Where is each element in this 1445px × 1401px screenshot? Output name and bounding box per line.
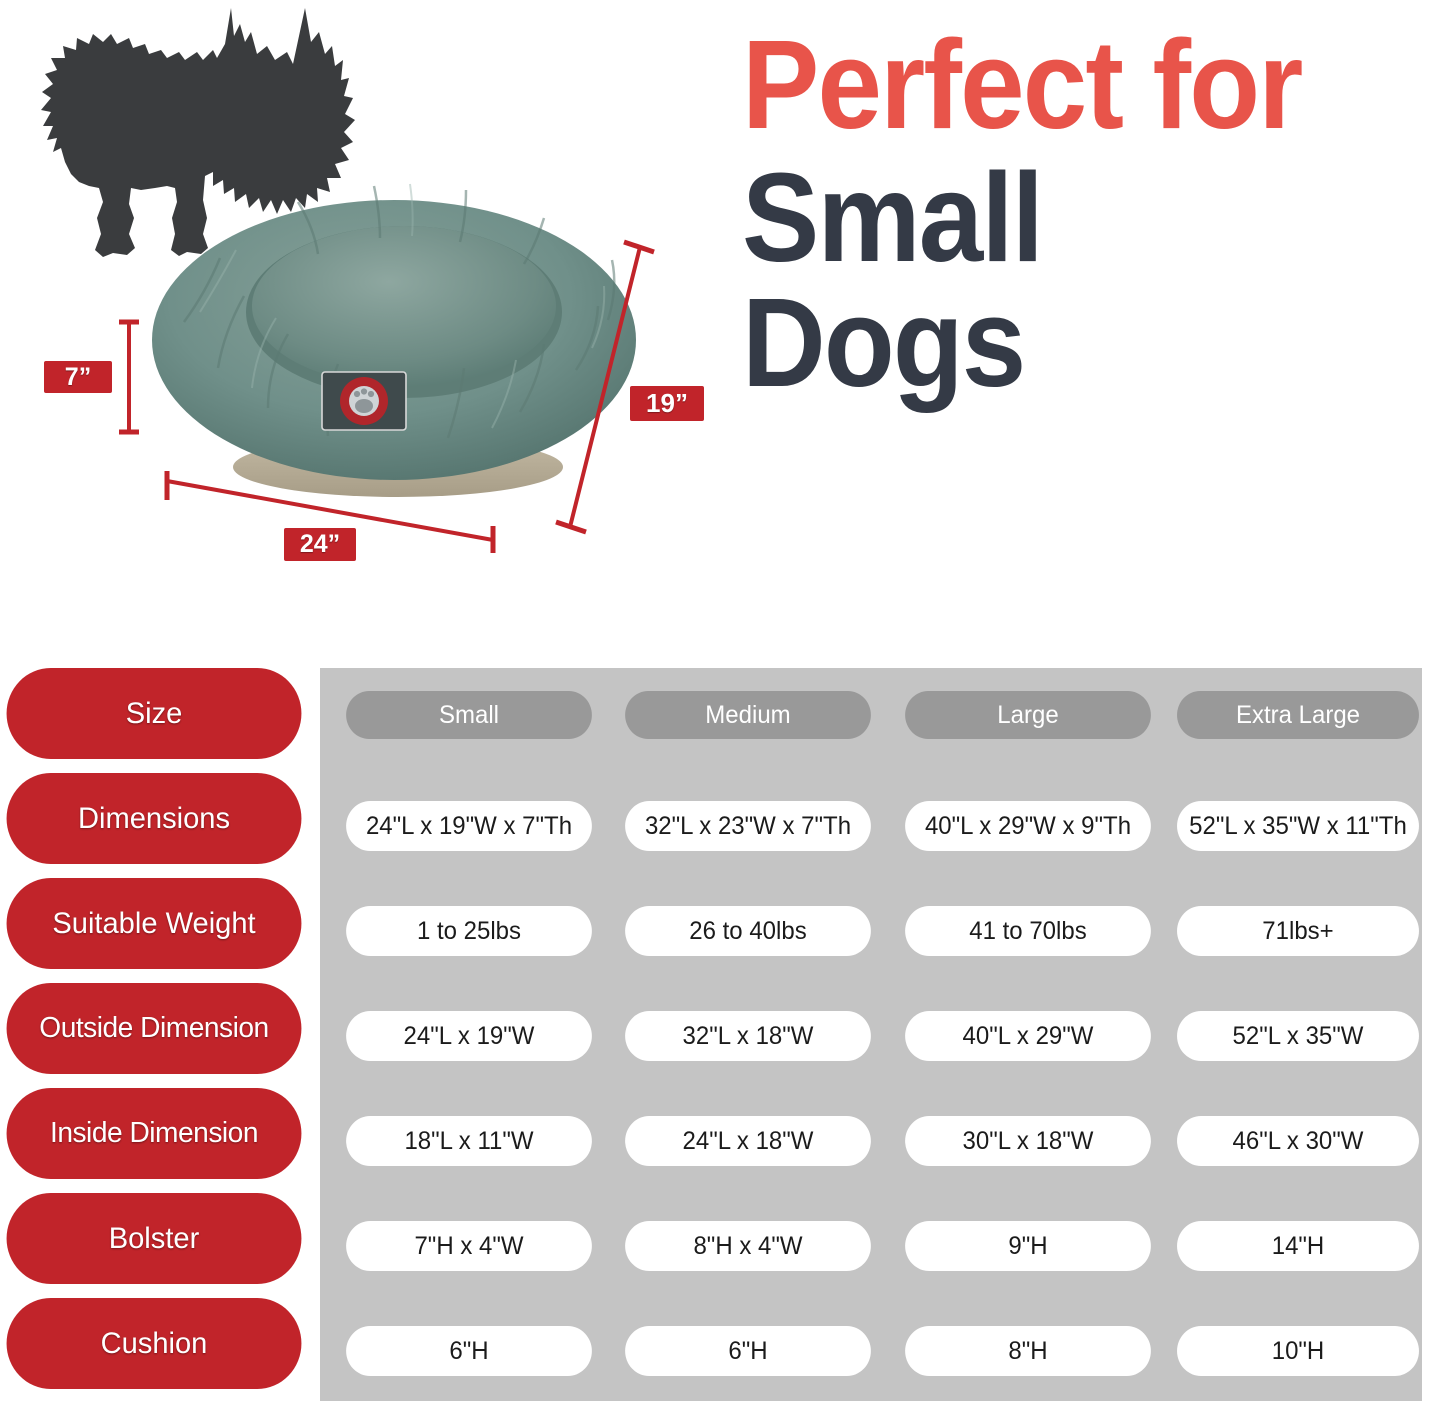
cell-outside-dimension-small: 24"L x 19"W xyxy=(346,1011,592,1061)
cell-bolster-extra-large: 14"H xyxy=(1177,1221,1419,1271)
cell-bolster-medium: 8"H x 4"W xyxy=(625,1221,871,1271)
cell-cushion-medium: 6"H xyxy=(625,1326,871,1376)
cell-outside-dimension-medium: 32"L x 18"W xyxy=(625,1011,871,1061)
measurement-line-height xyxy=(118,318,140,436)
headline-line-2: Small xyxy=(742,163,1386,274)
spec-row-label-column: Size Dimensions Suitable Weight Outside … xyxy=(2,655,308,1401)
cell-inside-dimension-medium: 24"L x 18"W xyxy=(625,1116,871,1166)
cell-suitable-weight-small: 1 to 25lbs xyxy=(346,906,592,956)
hero-headline: Perfect for Small Dogs xyxy=(742,30,1442,399)
cell-suitable-weight-medium: 26 to 40lbs xyxy=(625,906,871,956)
cell-inside-dimension-extra-large: 46"L x 30"W xyxy=(1177,1116,1419,1166)
cell-suitable-weight-extra-large: 71lbs+ xyxy=(1177,906,1419,956)
row-label-dimensions: Dimensions xyxy=(7,773,302,864)
column-header-large: Large xyxy=(905,691,1151,739)
brand-tag xyxy=(322,372,406,430)
cell-dimensions-medium: 32"L x 23"W x 7"Th xyxy=(625,801,871,851)
cell-dimensions-large: 40"L x 29"W x 9"Th xyxy=(905,801,1151,851)
cell-dimensions-extra-large: 52"L x 35"W x 11"Th xyxy=(1177,801,1419,851)
headline-line-3: Dogs xyxy=(742,288,1386,399)
infographic-page: 7” 24” 19” Perfect for Small Dogs Size D… xyxy=(0,0,1445,1401)
cell-inside-dimension-large: 30"L x 18"W xyxy=(905,1116,1151,1166)
cell-cushion-small: 6"H xyxy=(346,1326,592,1376)
column-header-medium: Medium xyxy=(625,691,871,739)
cell-outside-dimension-extra-large: 52"L x 35"W xyxy=(1177,1011,1419,1061)
cell-suitable-weight-large: 41 to 70lbs xyxy=(905,906,1151,956)
spec-table-section: Size Dimensions Suitable Weight Outside … xyxy=(0,655,1445,1401)
row-label-outside-dimension: Outside Dimension xyxy=(7,983,302,1074)
cell-bolster-large: 9"H xyxy=(905,1221,1151,1271)
measurement-label-height: 7” xyxy=(44,361,112,393)
cell-dimensions-small: 24"L x 19"W x 7"Th xyxy=(346,801,592,851)
row-label-suitable-weight: Suitable Weight xyxy=(7,878,302,969)
row-label-bolster: Bolster xyxy=(7,1193,302,1284)
cell-outside-dimension-large: 40"L x 29"W xyxy=(905,1011,1151,1061)
row-label-cushion: Cushion xyxy=(7,1298,302,1389)
cell-cushion-extra-large: 10"H xyxy=(1177,1326,1419,1376)
row-label-size: Size xyxy=(7,668,302,759)
hero-section: 7” 24” 19” Perfect for Small Dogs xyxy=(0,0,1445,655)
headline-line-1: Perfect for xyxy=(742,30,1386,141)
measurement-label-width: 19” xyxy=(630,386,704,421)
column-header-extra-large: Extra Large xyxy=(1177,691,1419,739)
cell-inside-dimension-small: 18"L x 11"W xyxy=(346,1116,592,1166)
measurement-label-length: 24” xyxy=(284,528,356,561)
row-label-inside-dimension: Inside Dimension xyxy=(7,1088,302,1179)
cell-cushion-large: 8"H xyxy=(905,1326,1151,1376)
cell-bolster-small: 7"H x 4"W xyxy=(346,1221,592,1271)
column-header-small: Small xyxy=(346,691,592,739)
